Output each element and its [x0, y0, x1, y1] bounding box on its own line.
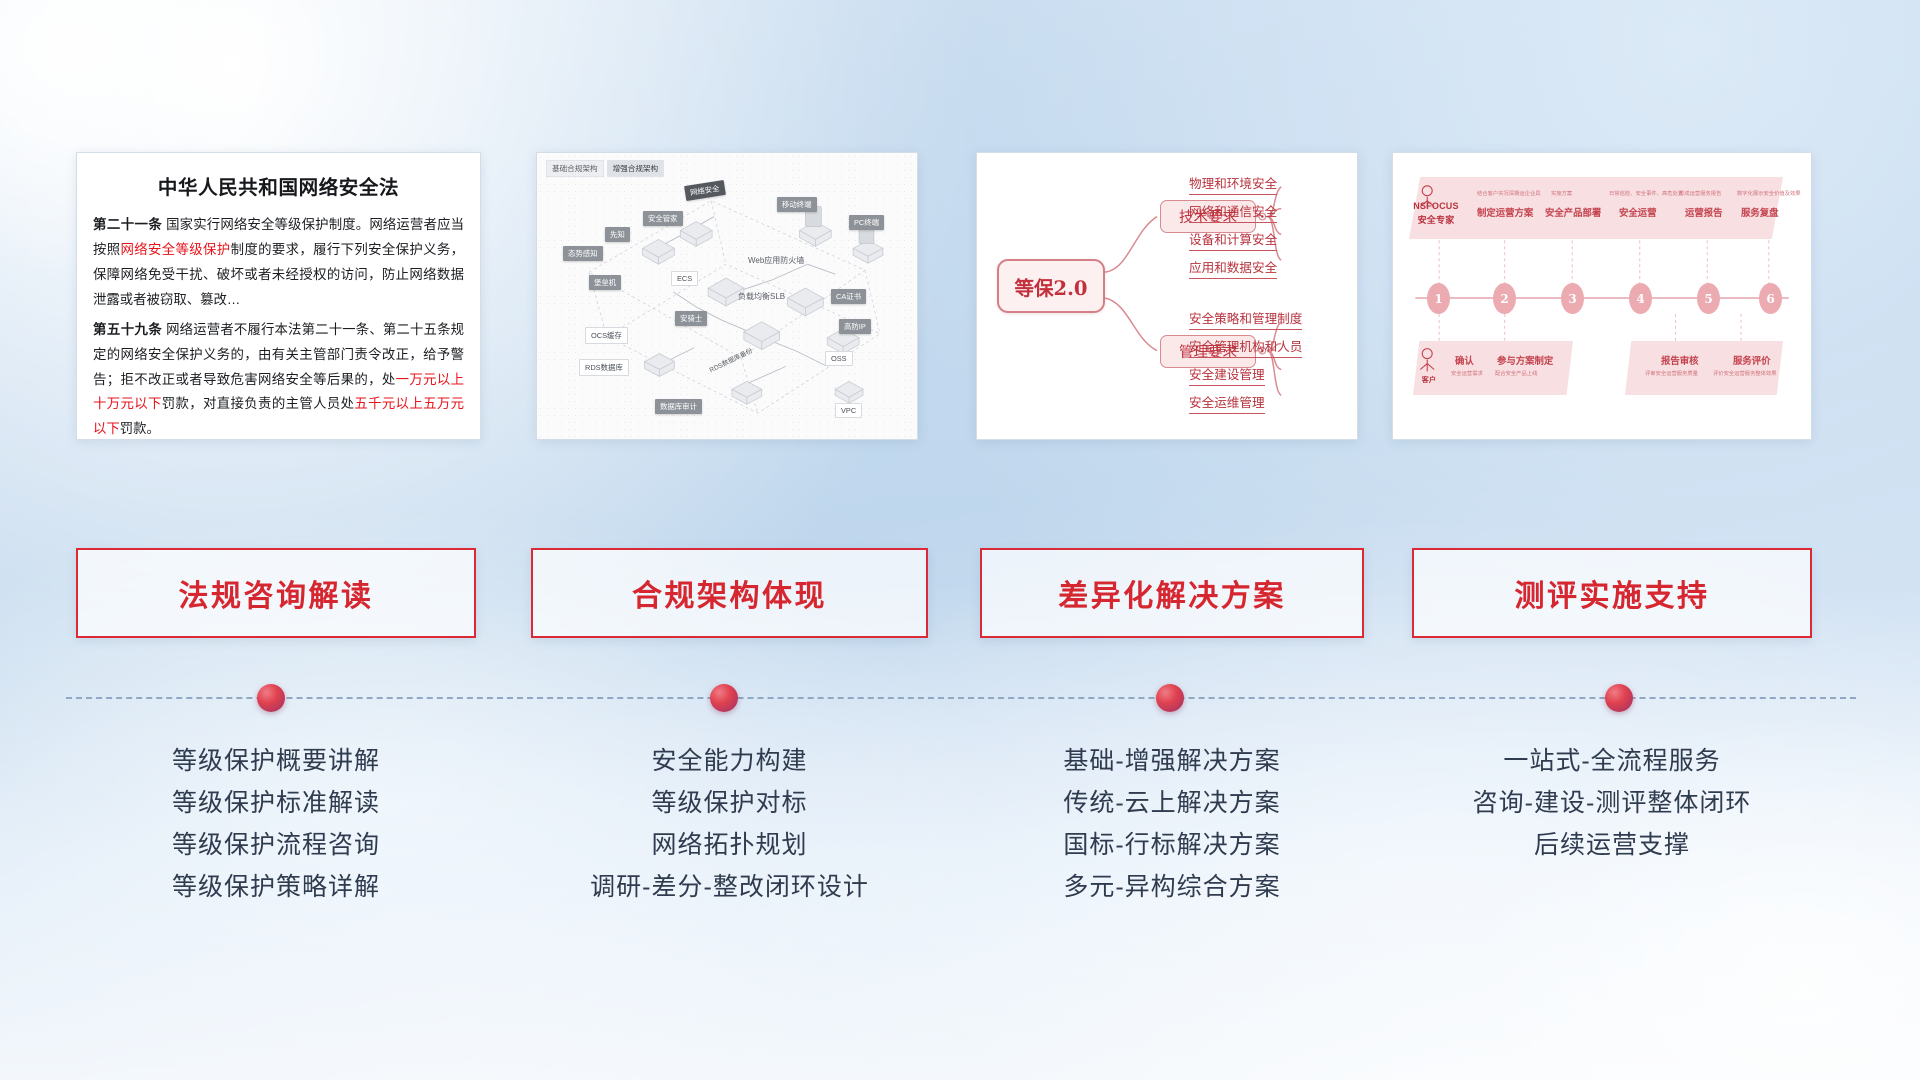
- card-nsfocus-process: NSFOCUS 安全专家 结合客户实况深期运企业具 制定运营方案 实施方案 安全…: [1392, 152, 1812, 440]
- node-label-web-application-firewall: Web应用防火墙: [743, 253, 809, 268]
- article-number: 第二十一条: [93, 217, 162, 232]
- node-label-bastion-host: 堡垒机: [589, 275, 621, 290]
- brand-subtitle: 安全专家: [1407, 213, 1465, 226]
- step-subtitle: 形成运营服务报告: [1679, 189, 1721, 197]
- card-compliance-architecture: 基础合规架构 增强合规架构: [536, 152, 918, 440]
- mindmap-leaf: 安全运维管理: [1189, 392, 1265, 414]
- card-cybersecurity-law: 中华人民共和国网络安全法 第二十一条 国家实行网络安全等级保护制度。网络运营者应…: [76, 152, 481, 440]
- customer-label: 客户: [1407, 375, 1451, 385]
- timeline-node: 6: [1759, 283, 1782, 314]
- step-label: 报告审核: [1661, 353, 1699, 367]
- pill-differentiated-solution[interactable]: 差异化解决方案: [980, 548, 1364, 638]
- step-subtitle: 配合安全产品上线: [1495, 369, 1537, 377]
- mindmap-leaf: 安全管理机构和人员: [1189, 336, 1302, 358]
- list-item: 国标-行标解决方案: [980, 824, 1364, 866]
- timeline-node: 5: [1697, 283, 1720, 314]
- mindmap-leaf: 应用和数据安全: [1189, 257, 1277, 279]
- step-label: 制定运营方案: [1477, 205, 1533, 219]
- law-article-21: 第二十一条 国家实行网络安全等级保护制度。网络运营者应当按照网络安全等级保护制度…: [93, 213, 464, 313]
- headline-pill-row: 法规咨询解读 合规架构体现 差异化解决方案 测评实施支持: [0, 548, 1920, 640]
- pill-label: 差异化解决方案: [1058, 571, 1286, 615]
- timeline-dot: [257, 684, 285, 712]
- node-label-security-butler: 安全管家: [643, 211, 683, 226]
- pill-label: 法规咨询解读: [179, 571, 374, 615]
- list-item: 基础-增强解决方案: [980, 740, 1364, 782]
- list-item: 等级保护对标: [531, 782, 928, 824]
- list-item: 等级保护标准解读: [76, 782, 476, 824]
- pill-assessment-support[interactable]: 测评实施支持: [1412, 548, 1812, 638]
- step-label: 安全运营: [1619, 205, 1657, 219]
- pill-label: 合规架构体现: [632, 571, 827, 615]
- list-item: 等级保护流程咨询: [76, 824, 476, 866]
- node-label-oss: OSS: [825, 351, 853, 366]
- node-label-anqishi: 安骑士: [675, 311, 707, 326]
- node-label-ecs: ECS: [671, 271, 698, 286]
- mindmap-root-node: 等保2.0: [997, 259, 1105, 313]
- timeline-dot: [710, 684, 738, 712]
- mindmap-leaf: 设备和计算安全: [1189, 229, 1277, 251]
- step-label: 确认: [1455, 353, 1474, 367]
- law-article-59: 第五十九条 网络运营者不履行本法第二十一条、第二十五条规定的网络安全保护义务的，…: [93, 318, 464, 440]
- node-label-rds-database: RDS数据库: [579, 359, 629, 376]
- article-text-run: 罚款，对直接负责的主管人员处: [162, 396, 355, 411]
- step-subtitle: 日常巡检、安全事件、高危处置: [1609, 189, 1683, 197]
- node-label-ca-certificate: CA证书: [831, 289, 866, 304]
- step-label: 参与方案制定: [1497, 353, 1553, 367]
- step-label: 服务复盘: [1741, 205, 1779, 219]
- step-label: 服务评价: [1733, 353, 1771, 367]
- pill-label: 测评实施支持: [1515, 571, 1710, 615]
- pill-compliance-architecture[interactable]: 合规架构体现: [531, 548, 928, 638]
- column-differentiated-solution: 基础-增强解决方案 传统-云上解决方案 国标-行标解决方案 多元-异构综合方案: [980, 740, 1364, 908]
- law-title: 中华人民共和国网络安全法: [93, 171, 464, 200]
- node-label-ocs-cache: OCS缓存: [585, 327, 628, 344]
- step-subtitle: 评审安全运营服务质量: [1645, 369, 1698, 377]
- mindmap-leaf: 安全建设管理: [1189, 364, 1265, 386]
- node-label-xianzhi: 先知: [605, 227, 630, 242]
- article-number: 第五十九条: [93, 322, 162, 337]
- node-label-anti-ddos-ip: 高防IP: [839, 319, 871, 334]
- list-item: 等级保护策略详解: [76, 866, 476, 908]
- node-label-database-audit: 数据库审计: [655, 399, 702, 414]
- node-label-mobile-terminal: 移动终端: [777, 197, 817, 212]
- list-item: 等级保护概要讲解: [76, 740, 476, 782]
- brand-name: NSFOCUS: [1407, 201, 1465, 211]
- list-item: 多元-异构综合方案: [980, 866, 1364, 908]
- timeline-node: 2: [1493, 283, 1516, 314]
- card-dengbao-mindmap: 等保2.0 技术要求 物理和环境安全 网络和通信安全 设备和计算安全 应用和数据…: [976, 152, 1358, 440]
- timeline-dot: [1156, 684, 1184, 712]
- column-regulation-consulting: 等级保护概要讲解 等级保护标准解读 等级保护流程咨询 等级保护策略详解: [76, 740, 476, 908]
- mindmap-leaf: 安全策略和管理制度: [1189, 308, 1302, 330]
- timeline-node: 1: [1427, 283, 1450, 314]
- step-subtitle: 结合客户实况深期运企业具: [1477, 189, 1541, 197]
- node-label-pc-terminal: PC终端: [849, 215, 884, 230]
- node-label-load-balancer-slb: 负载均衡SLB: [733, 289, 790, 304]
- node-label-vpc: VPC: [835, 403, 862, 418]
- step-subtitle: 评价安全运营服务整体效果: [1713, 369, 1777, 377]
- step-label: 运营报告: [1685, 205, 1723, 219]
- mindmap-leaf: 物理和环境安全: [1189, 173, 1277, 195]
- slide-root: 中华人民共和国网络安全法 第二十一条 国家实行网络安全等级保护制度。网络运营者应…: [0, 0, 1920, 1080]
- step-subtitle: 数字化展示安全价值及效果: [1737, 189, 1801, 197]
- node-label-situation-awareness: 态势感知: [563, 246, 603, 261]
- pill-regulation-consulting[interactable]: 法规咨询解读: [76, 548, 476, 638]
- mindmap-leaf: 网络和通信安全: [1189, 201, 1277, 223]
- list-item: 传统-云上解决方案: [980, 782, 1364, 824]
- step-label: 安全产品部署: [1545, 205, 1601, 219]
- article-text-run-highlight: 网络安全等级保护: [121, 242, 231, 257]
- dashed-line: [66, 697, 1856, 699]
- list-item: 安全能力构建: [531, 740, 928, 782]
- timeline-dot: [1605, 684, 1633, 712]
- list-item: 一站式-全流程服务: [1412, 740, 1812, 782]
- step-subtitle: 实施方案: [1551, 189, 1572, 197]
- timeline-connector: [66, 697, 1856, 699]
- column-assessment-support: 一站式-全流程服务 咨询-建设-测评整体闭环 后续运营支撑: [1412, 740, 1812, 866]
- list-item: 咨询-建设-测评整体闭环: [1412, 782, 1812, 824]
- list-item: 调研-差分-整改闭环设计: [531, 866, 928, 908]
- list-item: 后续运营支撑: [1412, 824, 1812, 866]
- column-compliance-architecture: 安全能力构建 等级保护对标 网络拓扑规划 调研-差分-整改闭环设计: [531, 740, 928, 908]
- timeline-node: 4: [1629, 283, 1652, 314]
- step-subtitle: 安全运营需求: [1451, 369, 1483, 377]
- article-text-run: 罚款。: [120, 421, 160, 436]
- illustration-card-row: 中华人民共和国网络安全法 第二十一条 国家实行网络安全等级保护制度。网络运营者应…: [0, 152, 1920, 442]
- list-item: 网络拓扑规划: [531, 824, 928, 866]
- timeline-node: 3: [1561, 283, 1584, 314]
